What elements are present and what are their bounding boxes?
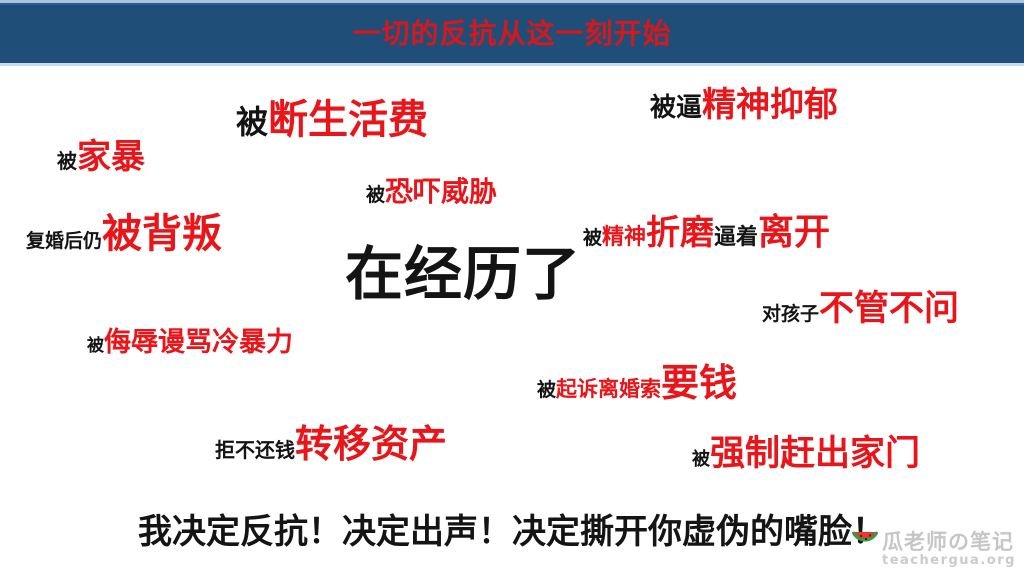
cloud-item-bei-bi-jing-shen-yi-yu: 被逼精神抑郁 (650, 88, 838, 122)
cloud-item-gan-chu-jia-men: 被强制赶出家门 (692, 437, 920, 472)
segment-text: 被 (537, 381, 556, 400)
segment-text: 精神 (602, 227, 646, 249)
segment-text: 离开 (758, 215, 830, 251)
segment-text: 被 (87, 338, 104, 355)
banner-top-highlight-secondary (0, 3, 1024, 5)
segment-text: 被 (692, 451, 710, 469)
cloud-item-kong-he-wei-xie: 被恐吓威胁 (366, 178, 497, 206)
segment-text: 断生活费 (268, 100, 428, 140)
cloud-item-bei-bei-pan: 复婚后仍被背叛 (26, 214, 222, 254)
banner-title: 一切的反抗从这一刻开始 (0, 18, 1024, 50)
banner-bottom-highlight (0, 63, 1024, 66)
segment-text: 被背叛 (102, 214, 222, 254)
slide-canvas: 一切的反抗从这一刻开始 被断生活费 被逼精神抑郁 被家暴 被恐吓威胁 复婚后仍被… (0, 0, 1024, 576)
segment-text: 强制赶出家门 (710, 437, 920, 472)
segment-text: 转移资产 (295, 425, 447, 463)
cloud-item-jia-bao: 被家暴 (57, 140, 145, 174)
cloud-item-yao-qian: 被起诉离婚索要钱 (537, 364, 737, 402)
watermark: 瓜老师の笔记 teachergua.org (852, 524, 1024, 574)
watermark-name: 瓜老师の笔记 (882, 526, 1014, 556)
segment-text: 家暴 (77, 140, 145, 174)
segment-text: 拒不还钱 (215, 440, 295, 460)
segment-text: 被 (236, 106, 268, 138)
center-phrase: 在经历了 (345, 245, 581, 303)
cloud-item-zhuan-yi-zi-chan: 拒不还钱转移资产 (215, 425, 447, 463)
segment-text: 复婚后仍 (26, 232, 102, 251)
cloud-item-wu-ru-man-ma: 被侮辱谩骂冷暴力 (87, 329, 293, 356)
cloud-item-jing-shen-zhe-mo-li-kai: 被精神折磨逼着离开 (583, 215, 830, 251)
segment-text: 对孩子 (762, 305, 819, 324)
segment-text: 折磨 (646, 216, 714, 250)
segment-text: 被 (583, 229, 602, 248)
header-banner: 一切的反抗从这一刻开始 (0, 0, 1024, 66)
segment-text: 逼着 (714, 227, 758, 249)
segment-text: 被逼 (650, 95, 702, 121)
center-phrase-text: 在经历了 (345, 245, 581, 303)
segment-text: 被 (366, 186, 385, 205)
cloud-item-bu-guan-bu-wen: 对孩子不管不问 (762, 292, 959, 327)
segment-text: 起诉离婚索 (556, 379, 661, 400)
watermark-url: teachergua.org (882, 553, 1016, 568)
cloud-item-duan-sheng-huo-fei: 被断生活费 (236, 100, 428, 140)
segment-text: 被 (57, 151, 77, 171)
segment-text: 恐吓威胁 (385, 178, 497, 206)
watermelon-icon (852, 528, 878, 552)
segment-text: 要钱 (661, 364, 737, 402)
segment-text: 不管不问 (819, 292, 959, 327)
segment-text: 侮辱谩骂冷暴力 (104, 329, 293, 356)
segment-text: 精神抑郁 (702, 88, 838, 122)
